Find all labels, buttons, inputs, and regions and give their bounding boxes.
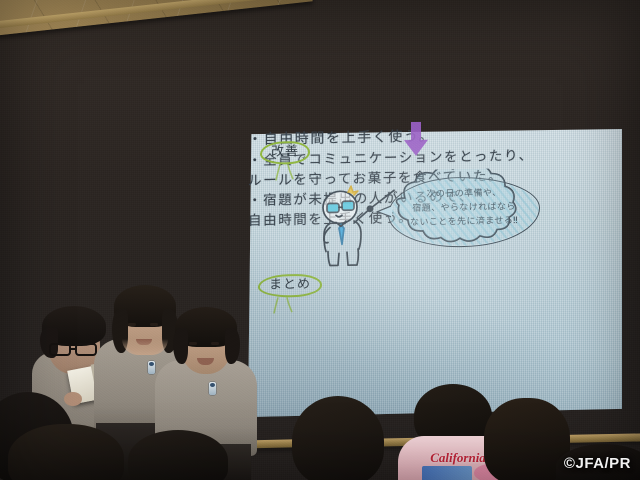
photograph: 改善 ・自由時間を上手く使う。 [0,0,640,480]
copyright-watermark: ©JFA/PR [564,455,631,472]
screen-lighting [248,129,622,417]
right-student-hair-left [173,328,188,364]
right-student-eye-right [211,342,219,345]
audience-head-2b [128,430,228,480]
audience-4-shirt-graphic [422,466,472,480]
projection-screen: 改善 ・自由時間を上手く使う。 [248,129,622,417]
center-student-eye-left [128,323,136,326]
center-student-polo-logo [148,361,155,374]
right-student-hair-right [225,328,240,364]
right-student-eye-left [189,342,197,345]
audience-head-3 [292,396,384,480]
audience-head-2 [8,424,124,480]
right-student-polo-logo [209,382,216,395]
